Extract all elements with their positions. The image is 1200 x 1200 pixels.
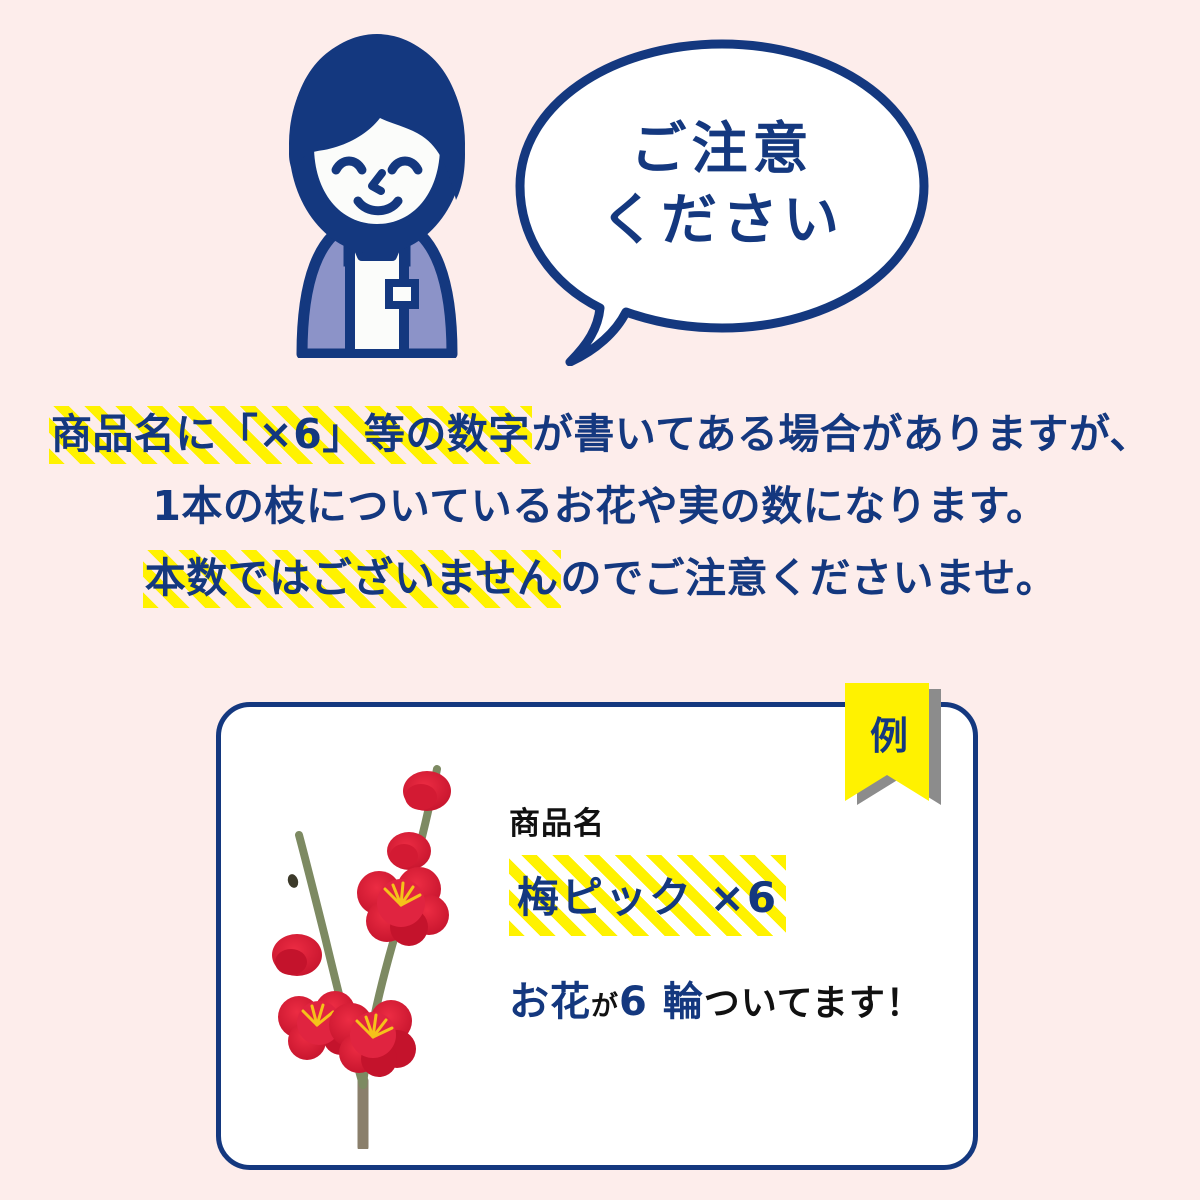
notice-line-2: 1本の枝についているお花や実の数になります。 bbox=[0, 470, 1200, 542]
notice-line-2-text: 1本の枝についているお花や実の数になります。 bbox=[152, 482, 1047, 530]
card-text-block: 商品名 梅ピック ×6 お花が6 輪ついてます！ bbox=[509, 807, 959, 1024]
count-part-suffix: ついてます！ bbox=[704, 983, 923, 1024]
example-ribbon-tag: 例 bbox=[845, 683, 941, 807]
product-label: 商品名 bbox=[509, 807, 959, 841]
notice-line-3-rest: のでご注意くださいませ。 bbox=[561, 554, 1058, 602]
header-area: ご注意 ください bbox=[0, 0, 1200, 390]
notice-line-1-highlight: 商品名に「×6」等の数字 bbox=[49, 406, 532, 464]
plum-branch-photo bbox=[251, 729, 491, 1149]
count-part-number: 6 輪 bbox=[619, 979, 704, 1025]
notice-line-3-highlight: 本数ではございません bbox=[143, 550, 561, 608]
shop-staff-woman-icon bbox=[272, 28, 482, 358]
product-name-wrapper: 梅ピック ×6 bbox=[509, 855, 786, 936]
product-name: 梅ピック ×6 bbox=[509, 855, 786, 936]
count-part-flower: お花 bbox=[509, 979, 591, 1025]
flower-count-line: お花が6 輪ついてます！ bbox=[509, 980, 959, 1024]
notice-message: 商品名に「×6」等の数字が書いてある場合がありますが、 1本の枝についているお花… bbox=[0, 398, 1200, 614]
speech-bubble: ご注意 ください bbox=[512, 36, 932, 366]
count-part-ga: が bbox=[591, 991, 619, 1022]
notice-line-1-rest: が書いてある場合がありますが、 bbox=[532, 410, 1151, 458]
notice-graphic: ご注意 ください 商品名に「×6」等の数字が書いてある場合がありますが、 1本の… bbox=[0, 0, 1200, 1200]
notice-line-3: 本数ではございませんのでご注意くださいませ。 bbox=[0, 542, 1200, 614]
notice-line-1: 商品名に「×6」等の数字が書いてある場合がありますが、 bbox=[0, 398, 1200, 470]
